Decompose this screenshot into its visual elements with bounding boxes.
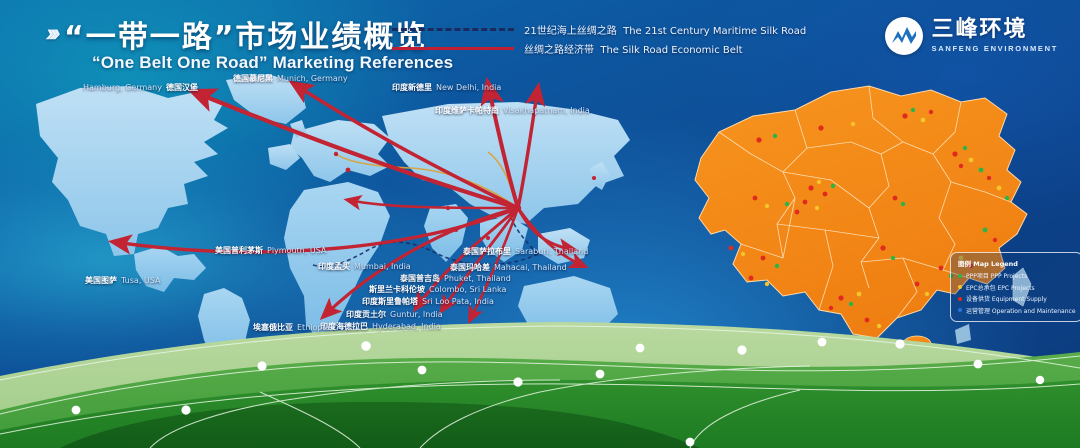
city-label: 斯里兰卡科伦坡Colombo, Sri Lanka — [369, 286, 506, 295]
city-label-en: Sri Loo Pata, India — [422, 297, 494, 306]
mountain-wave-glyph — [890, 24, 918, 48]
green-hills — [0, 318, 1080, 448]
city-label-cn: 埃塞俄比亚 — [253, 323, 293, 332]
map-legend-title: 图例 Map Legend — [958, 258, 1076, 268]
map-legend-item: 运营管理 Operation and Maintenance — [958, 306, 1076, 315]
title-chinese: “一带一路”市场业绩概览 — [64, 12, 427, 56]
map-legend-item: PPP项目 PPP Projects — [958, 271, 1076, 280]
city-label-cn: 印度斯里鲁帕塔 — [362, 297, 418, 306]
map-legend-item-label: 运营管理 Operation and Maintenance — [966, 306, 1076, 315]
city-label-cn: 印度新德里 — [392, 83, 432, 92]
city-label-en: Mahacai, Thailand — [494, 263, 567, 272]
sanfeng-logo-icon — [885, 17, 923, 55]
city-label: 泰国萨拉布里Saraburi, Thailand — [463, 248, 588, 257]
dashed-line-swatch — [392, 28, 514, 31]
map-legend-item-label: 设备供货 Equipment Supply — [966, 294, 1047, 303]
city-label-cn: 泰国玛哈差 — [450, 263, 490, 272]
city-label-cn: 泰国萨拉布里 — [463, 247, 511, 256]
city-label-en: Mumbai, India — [354, 262, 411, 271]
city-label-en: Tusa, USA — [121, 276, 160, 285]
city-label: 德国慕尼黑Munich, Germany — [233, 75, 348, 84]
map-legend-item: EPC总承包 EPC Projects — [958, 283, 1076, 292]
legend-item-maritime: 21世纪海上丝绸之路 The 21st Century Maritime Sil… — [392, 20, 822, 39]
city-label-cn: 美国普利茅斯 — [215, 246, 263, 255]
city-label: 美国普利茅斯Plymouth, USA — [215, 247, 326, 256]
city-label-en: Colombo, Sri Lanka — [429, 285, 506, 294]
city-label: 泰国玛哈差Mahacai, Thailand — [450, 264, 567, 273]
city-label-en: Ethiopia — [297, 323, 330, 332]
legend-dot-icon — [958, 274, 962, 278]
city-label-cn: 德国慕尼黑 — [233, 74, 273, 83]
city-label-en: Hamburg, Germany — [83, 83, 162, 92]
city-label: Hamburg, Germany德国汉堡 — [83, 84, 198, 93]
city-label-cn: 斯里兰卡科伦坡 — [369, 285, 425, 294]
legend-item-belt: 丝绸之路经济带 The Silk Road Economic Belt — [392, 39, 822, 58]
map-legend-box: 图例 Map Legend PPP项目 PPP ProjectsEPC总承包 E… — [950, 252, 1080, 322]
city-label: 美国图萨Tusa, USA — [85, 277, 160, 286]
legend-dot-icon — [958, 297, 962, 301]
city-label-en: Hyderabad, India — [372, 322, 441, 331]
city-label-cn: 泰国普吉岛 — [400, 274, 440, 283]
city-label: 泰国普吉岛Phuket, Thailand — [400, 275, 511, 284]
city-label-cn: 印度贡土尔 — [346, 310, 386, 319]
solid-line-swatch — [392, 47, 514, 50]
map-legend-item-label: EPC总承包 EPC Projects — [966, 283, 1035, 292]
city-label-cn: 印度孟买 — [318, 262, 350, 271]
legend-dot-icon — [958, 308, 962, 312]
city-label-en: Saraburi, Thailand — [515, 247, 588, 256]
header: ›››“一带一路”市场业绩概览 “One Belt One Road” Mark… — [0, 0, 1080, 72]
legend-item-maritime-label: 21世纪海上丝绸之路 The 21st Century Maritime Sil… — [524, 22, 806, 37]
map-legend-item-label: PPP项目 PPP Projects — [966, 271, 1027, 280]
city-label: 埃塞俄比亚Ethiopia — [253, 324, 330, 333]
city-label: 印度贡土尔Guntur, India — [346, 311, 443, 320]
city-label: 印度斯里鲁帕塔Sri Loo Pata, India — [362, 298, 494, 307]
city-label: 印度新德里New Delhi, India — [392, 84, 501, 93]
city-label-en: Munich, Germany — [277, 74, 348, 83]
city-label-en: Phuket, Thailand — [444, 274, 511, 283]
route-legend: 21世纪海上丝绸之路 The 21st Century Maritime Sil… — [392, 20, 822, 58]
map-legend-item: 设备供货 Equipment Supply — [958, 294, 1076, 303]
city-label-en: Visakhapatnam, India — [503, 106, 590, 115]
city-label-en: Plymouth, USA — [267, 246, 326, 255]
map-legend-items: PPP项目 PPP ProjectsEPC总承包 EPC Projects设备供… — [958, 271, 1076, 315]
city-label: 印度孟买Mumbai, India — [318, 263, 411, 272]
city-label-en: New Delhi, India — [436, 83, 501, 92]
brand-name-chinese: 三峰环境 — [932, 19, 1058, 41]
brand-logo: 三峰环境 SANFENG ENVIRONMENT — [885, 17, 1058, 55]
city-label-en: Guntur, India — [390, 310, 443, 319]
city-label-cn: 德国汉堡 — [166, 83, 198, 92]
legend-dot-icon — [958, 285, 962, 289]
poster-root: ›››“一带一路”市场业绩概览 “One Belt One Road” Mark… — [0, 0, 1080, 448]
city-label: 印度海德拉巴Hyderabad, India — [320, 323, 441, 332]
city-label: 印度维萨卡帕特南Visakhapatnam, India — [435, 107, 590, 116]
brand-name-english: SANFENG ENVIRONMENT — [932, 45, 1058, 53]
city-label-cn: 印度维萨卡帕特南 — [435, 106, 499, 115]
legend-item-belt-label: 丝绸之路经济带 The Silk Road Economic Belt — [524, 41, 743, 56]
city-label-cn: 美国图萨 — [85, 276, 117, 285]
chevron-right-icon: ››› — [43, 19, 59, 48]
